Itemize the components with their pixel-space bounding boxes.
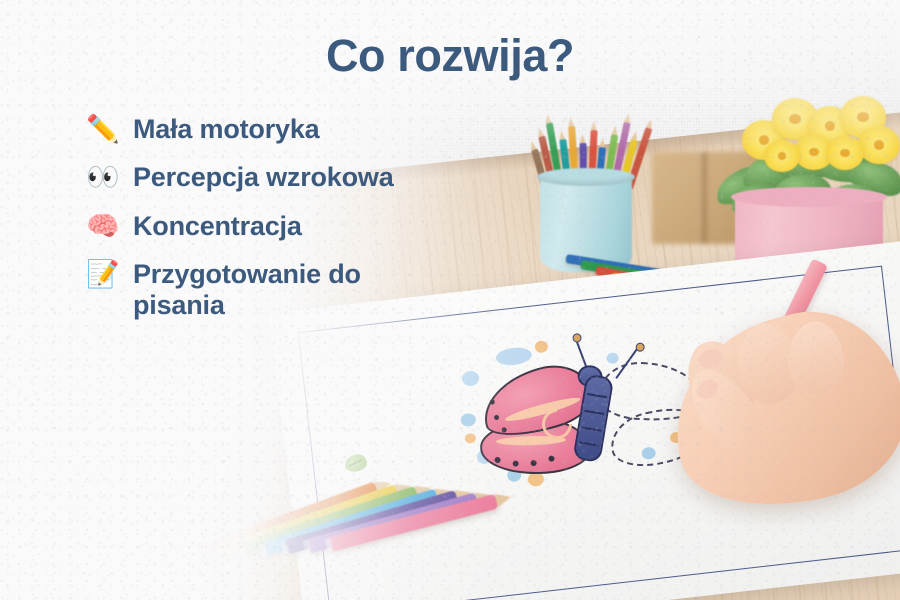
benefit-item: 🧠Koncentracja — [86, 211, 486, 242]
benefit-item: 👀Percepcja wzrokowa — [86, 162, 486, 193]
brain-icon: 🧠 — [86, 211, 120, 242]
benefit-label: Percepcja wzrokowa — [133, 162, 394, 193]
poster-canvas: Co rozwija? ✏️Mała motoryka👀Percepcja wz… — [0, 0, 900, 600]
page-title: Co rozwija? — [0, 30, 900, 82]
benefit-label: Koncentracja — [133, 211, 302, 242]
benefit-label: Przygotowanie do pisania — [133, 259, 433, 322]
pencil-icon: ✏️ — [86, 114, 120, 145]
benefit-item: ✏️Mała motoryka — [86, 114, 486, 145]
memo-icon: 📝 — [86, 259, 120, 290]
benefit-item: 📝Przygotowanie do pisania — [86, 259, 486, 322]
benefit-label: Mała motoryka — [133, 114, 319, 145]
poster-content: Co rozwija? ✏️Mała motoryka👀Percepcja wz… — [0, 0, 900, 600]
eyes-icon: 👀 — [86, 162, 120, 193]
benefit-list: ✏️Mała motoryka👀Percepcja wzrokowa🧠Konce… — [86, 114, 486, 339]
